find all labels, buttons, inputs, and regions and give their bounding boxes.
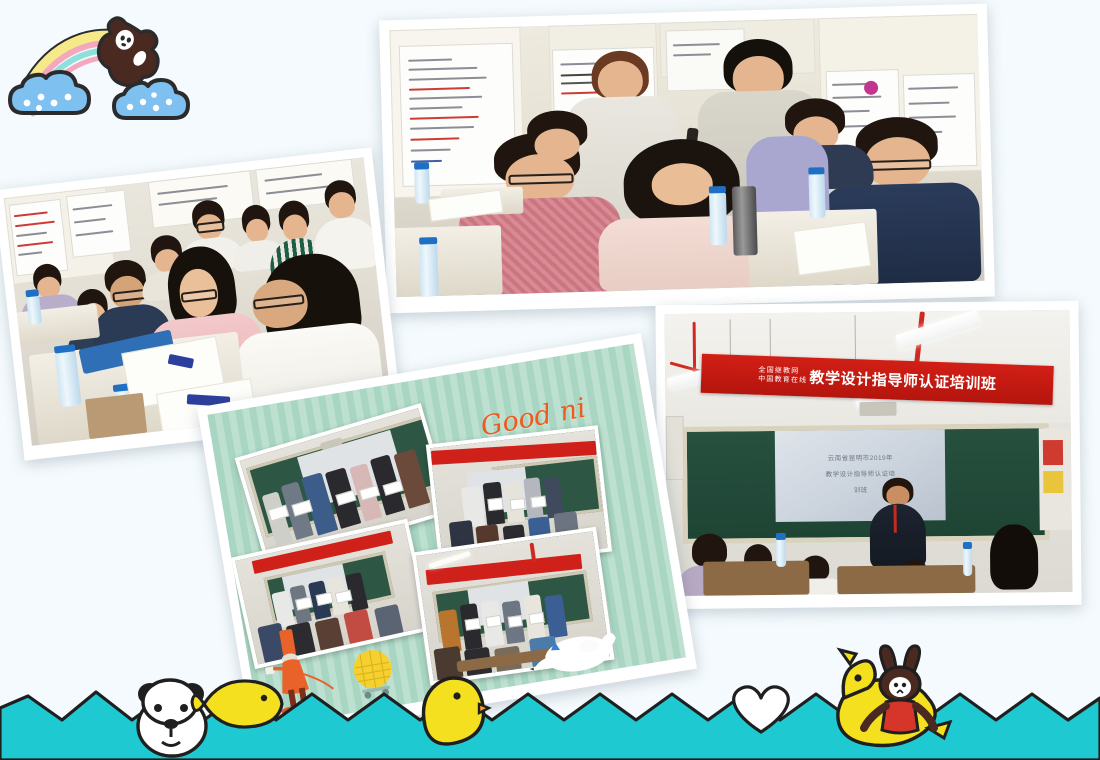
water-bottle xyxy=(709,192,728,246)
lecture-photo-image: 全国继教网 中国教育在线 教学设计指导师认证培训班 云南省昆明市2019年 教学… xyxy=(665,310,1073,596)
yellow-fish-icon xyxy=(190,670,286,734)
seated-man-back-left xyxy=(509,110,605,193)
scrapbook-page: 全国继教网 中国教育在线 教学设计指导师认证培训班 云南省昆明市2019年 教学… xyxy=(0,0,1100,760)
yellow-duck-icon xyxy=(800,640,980,760)
desk xyxy=(389,225,502,297)
screen-line-1: 云南省昆明市2019年 xyxy=(775,453,945,464)
white-heart-icon xyxy=(724,678,798,738)
lecture-hall-photo[interactable]: 全国继教网 中国教育在线 教学设计指导师认证培训班 云南省昆明市2019年 教学… xyxy=(655,301,1081,609)
workshop-photo-image xyxy=(389,14,984,297)
water-bottle xyxy=(808,173,826,219)
workshop-group-photo[interactable] xyxy=(379,4,995,314)
water-bottle xyxy=(419,243,439,297)
banner-org-lines: 全国继教网 中国教育在线 xyxy=(758,367,810,386)
desk xyxy=(837,565,975,595)
desk xyxy=(704,561,810,596)
yellow-bird-icon xyxy=(413,670,493,750)
water-bottle xyxy=(414,168,430,203)
audience-member-long-hair xyxy=(983,524,1044,592)
ocean-wave-border xyxy=(0,664,1100,760)
bear-rainbow-icon xyxy=(6,8,216,128)
thermos xyxy=(732,186,757,256)
speaker-presenting xyxy=(869,478,927,569)
water-bottle xyxy=(776,538,786,566)
banner-main-title: 教学设计指导师认证培训班 xyxy=(809,367,997,395)
water-bottle xyxy=(963,548,973,576)
bear-rainbow-clouds-decoration xyxy=(6,8,216,128)
banner-org-line-2: 中国教育在线 xyxy=(758,375,807,385)
